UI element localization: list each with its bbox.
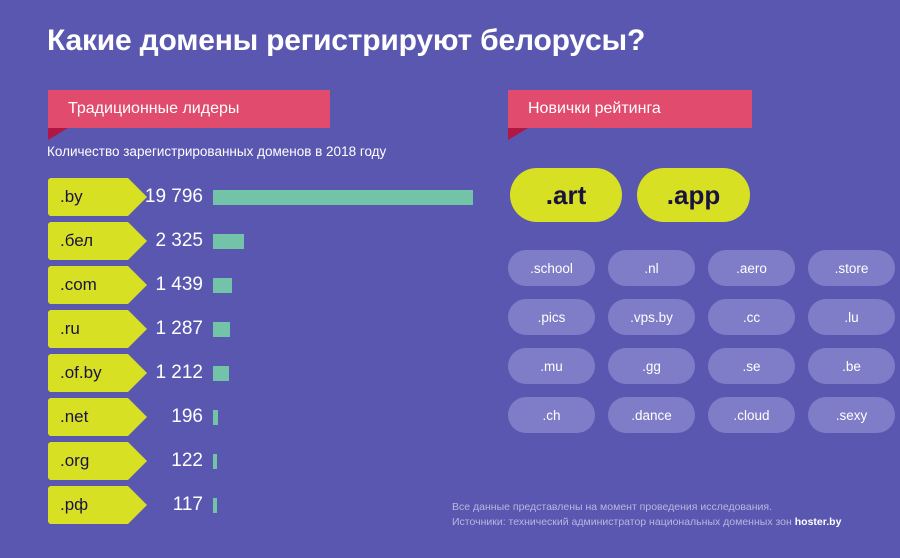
domain-tag-label: .com <box>60 275 97 295</box>
infographic-page: Какие домены регистрируют белорусы? Трад… <box>0 0 900 558</box>
footer-note: Все данные представлены на момент провед… <box>452 500 841 530</box>
domain-count-value: 1 439 <box>120 263 203 307</box>
chart-row: .net196 <box>0 395 500 439</box>
domain-count-value: 19 796 <box>120 175 203 219</box>
chart-row: .by19 796 <box>0 175 500 219</box>
highlight-pill-art-label: .art <box>546 180 586 211</box>
bar <box>213 322 230 337</box>
domain-tag: .org <box>48 442 128 480</box>
bar <box>213 410 218 425</box>
domain-chip: .mu <box>508 348 595 384</box>
domain-chip: .cloud <box>708 397 795 433</box>
domain-count-value: 196 <box>120 395 203 439</box>
domain-count-value: 1 212 <box>120 351 203 395</box>
domain-tag-label: .бел <box>60 231 93 251</box>
footer-line-1: Все данные представлены на момент провед… <box>452 500 841 515</box>
domain-tag: .рф <box>48 486 128 524</box>
domain-count-value: 1 287 <box>120 307 203 351</box>
domain-chip: .school <box>508 250 595 286</box>
domain-chip: .lu <box>808 299 895 335</box>
bar-track <box>213 351 493 395</box>
domain-tag-label: .рф <box>60 495 88 515</box>
domain-chip: .dance <box>608 397 695 433</box>
domain-count-value: 117 <box>120 483 203 527</box>
banner-fold-right-icon <box>508 128 528 140</box>
domain-chip: .se <box>708 348 795 384</box>
domain-tag: .бел <box>48 222 128 260</box>
domain-tag: .ru <box>48 310 128 348</box>
chart-row: .бел2 325 <box>0 219 500 263</box>
domain-tag: .net <box>48 398 128 436</box>
domain-chip: .vps.by <box>608 299 695 335</box>
chart-subtitle: Количество зарегистрированных доменов в … <box>47 144 386 159</box>
domain-bar-chart: .by19 796.бел2 325.com1 439.ru1 287.of.b… <box>0 175 500 527</box>
domain-count-value: 2 325 <box>120 219 203 263</box>
bar <box>213 278 232 293</box>
bar <box>213 454 217 469</box>
footer-line-2: Источники: технический администратор нац… <box>452 515 841 530</box>
page-title: Какие домены регистрируют белорусы? <box>47 24 645 58</box>
domain-tag-label: .ru <box>60 319 80 339</box>
domain-chip: .be <box>808 348 895 384</box>
bar <box>213 234 244 249</box>
bar-track <box>213 483 493 527</box>
chart-row: .com1 439 <box>0 263 500 307</box>
banner-traditional-leaders-label: Традиционные лидеры <box>68 100 239 118</box>
domain-count-value: 122 <box>120 439 203 483</box>
domain-chip: .sexy <box>808 397 895 433</box>
bar <box>213 498 217 513</box>
bar-track <box>213 175 493 219</box>
newcomer-domain-chips: .school.nl.aero.store.pics.vps.by.cc.lu.… <box>508 250 868 433</box>
domain-chip: .pics <box>508 299 595 335</box>
domain-tag: .of.by <box>48 354 128 392</box>
chart-row: .of.by1 212 <box>0 351 500 395</box>
bar-track <box>213 263 493 307</box>
highlight-pill-art: .art <box>510 168 622 222</box>
domain-chip: .cc <box>708 299 795 335</box>
domain-chip: .nl <box>608 250 695 286</box>
chart-row: .рф117 <box>0 483 500 527</box>
highlight-pill-app-label: .app <box>667 180 720 211</box>
bar-track <box>213 219 493 263</box>
banner-traditional-leaders: Традиционные лидеры <box>48 90 330 128</box>
domain-chip: .store <box>808 250 895 286</box>
domain-tag-label: .of.by <box>60 363 102 383</box>
banner-newcomers-label: Новички рейтинга <box>528 100 661 118</box>
footer-sources-prefix: Источники: технический администратор нац… <box>452 516 795 528</box>
bar <box>213 190 473 205</box>
domain-tag-label: .by <box>60 187 83 207</box>
domain-chip: .gg <box>608 348 695 384</box>
bar <box>213 366 229 381</box>
chart-row: .org122 <box>0 439 500 483</box>
domain-tag: .com <box>48 266 128 304</box>
domain-chip: .aero <box>708 250 795 286</box>
chart-row: .ru1 287 <box>0 307 500 351</box>
highlight-pill-app: .app <box>637 168 750 222</box>
banner-fold-left-icon <box>48 128 68 140</box>
domain-tag-label: .org <box>60 451 89 471</box>
banner-newcomers: Новички рейтинга <box>508 90 752 128</box>
domain-chip: .ch <box>508 397 595 433</box>
bar-track <box>213 307 493 351</box>
domain-tag-label: .net <box>60 407 88 427</box>
footer-brand-hosterby: hoster.by <box>795 516 842 528</box>
bar-track <box>213 395 493 439</box>
bar-track <box>213 439 493 483</box>
domain-tag: .by <box>48 178 128 216</box>
